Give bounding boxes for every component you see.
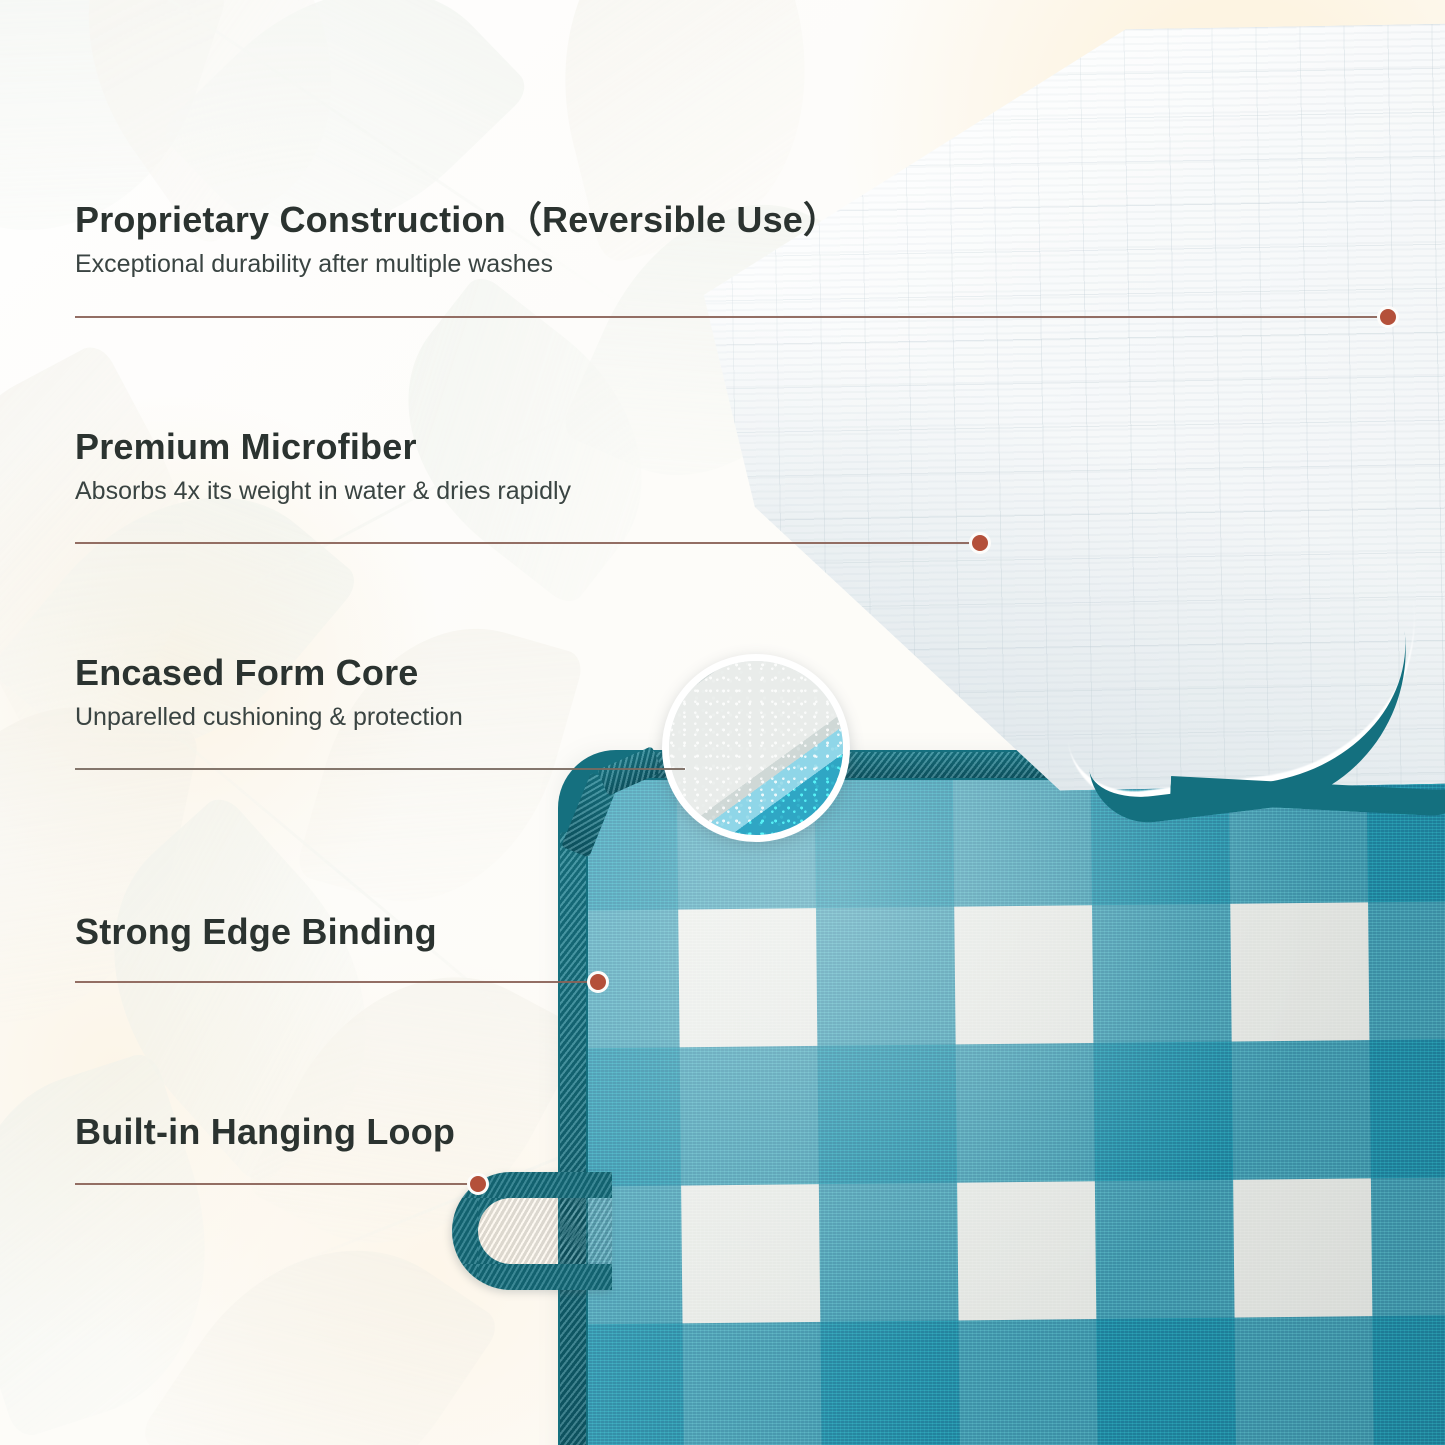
leader-line-2 [75, 542, 980, 544]
feature-title: Encased Form Core [75, 653, 463, 693]
marker-dot-1 [1377, 306, 1399, 328]
leader-line-5 [75, 1183, 478, 1185]
feature-title: Premium Microfiber [75, 427, 571, 467]
binding-texture-left [560, 832, 586, 1445]
feature-premium-microfiber: Premium Microfiber Absorbs 4x its weight… [75, 427, 571, 505]
foam-granule-texture [669, 661, 843, 835]
feature-built-in-hanging-loop: Built-in Hanging Loop [75, 1112, 455, 1152]
feature-strong-edge-binding: Strong Edge Binding [75, 912, 437, 952]
feature-title: Strong Edge Binding [75, 912, 437, 952]
feature-proprietary-construction: Proprietary Construction（Reversible Use）… [75, 200, 839, 278]
marker-dot-4 [587, 971, 609, 993]
marker-dot-5 [467, 1173, 489, 1195]
product-infographic: Proprietary Construction（Reversible Use）… [0, 0, 1445, 1445]
feature-subtitle: Unparelled cushioning & protection [75, 703, 463, 732]
feature-subtitle: Absorbs 4x its weight in water & dries r… [75, 477, 571, 506]
feature-subtitle: Exceptional durability after multiple wa… [75, 250, 839, 279]
leader-line-4 [75, 981, 598, 983]
feature-title: Built-in Hanging Loop [75, 1112, 455, 1152]
flap-edge-binding-lower [1170, 592, 1445, 817]
feature-title: Proprietary Construction（Reversible Use） [75, 200, 839, 240]
foam-core-zoom-inset [662, 654, 850, 842]
marker-dot-2 [969, 532, 991, 554]
leader-line-1 [75, 316, 1388, 318]
leader-line-3 [75, 768, 685, 770]
edge-binding-teal [558, 750, 1445, 1445]
feature-encased-form-core: Encased Form Core Unparelled cushioning … [75, 653, 463, 731]
